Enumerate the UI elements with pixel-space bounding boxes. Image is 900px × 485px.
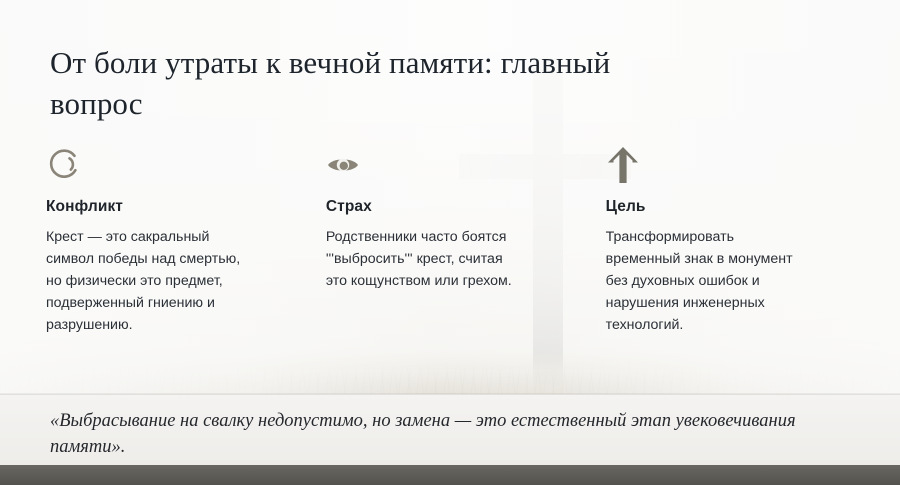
page-title: От боли утраты к вечной памяти: главный …: [50, 42, 650, 124]
slide-canvas: От боли утраты к вечной памяти: главный …: [0, 0, 900, 485]
column-goal: Цель Трансформировать временный знак в м…: [606, 143, 851, 336]
column-heading: Цель: [606, 198, 851, 216]
column-body: Крест — это сакральный символ победы над…: [46, 226, 319, 336]
eye-icon: [326, 143, 599, 187]
column-body: Родственники часто боятся '''выбросить''…: [326, 226, 599, 292]
column-heading: Страх: [326, 198, 599, 216]
quote-band: «Выбрасывание на свалку недопустимо, но …: [0, 394, 900, 465]
pull-quote: «Выбрасывание на свалку недопустимо, но …: [50, 408, 860, 461]
arrow-up-icon: [606, 143, 851, 187]
broken-circle-icon: [46, 143, 319, 187]
column-heading: Конфликт: [46, 198, 319, 216]
column-conflict: Конфликт Крест — это сакральный символ п…: [46, 143, 319, 336]
three-column-section: Конфликт Крест — это сакральный символ п…: [46, 143, 858, 336]
slide-content: От боли утраты к вечной памяти: главный …: [0, 0, 900, 485]
column-body: Трансформировать временный знак в монуме…: [606, 226, 851, 336]
column-fear: Страх Родственники часто боятся '''выбро…: [326, 143, 599, 336]
footer-strip: [0, 463, 900, 485]
